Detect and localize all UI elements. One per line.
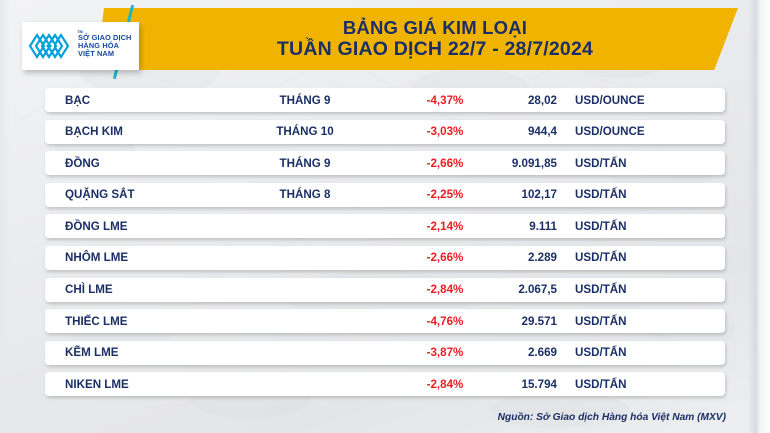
page-title-line2: TUẦN GIAO DỊCH 22/7 - 28/7/2024 <box>277 38 593 61</box>
cell-price: 102,17 <box>445 188 557 201</box>
cell-price: 2.669 <box>445 346 557 359</box>
table-row: BẠCH KIMTHÁNG 10-3,03%944,4USD/OUNCE <box>45 120 725 144</box>
cell-commodity: CHÌ LME <box>65 283 113 296</box>
logo-line-3: VIỆT NAM <box>78 50 132 58</box>
cell-price: 2.067,5 <box>445 283 557 296</box>
cell-month: THÁNG 9 <box>235 157 375 170</box>
cell-unit: USD/TẤN <box>575 378 627 391</box>
cell-commodity: ĐỒNG LME <box>65 220 127 233</box>
cell-commodity: NHÔM LME <box>65 251 128 264</box>
cell-unit: USD/TẤN <box>575 315 627 328</box>
table-row: ĐỒNGTHÁNG 9-2,66%9.091,85USD/TẤN <box>45 151 725 175</box>
cell-price: 28,02 <box>445 94 557 107</box>
table-row: QUẶNG SẮTTHÁNG 8-2,25%102,17USD/TẤN <box>45 183 725 207</box>
cell-unit: USD/TẤN <box>575 251 627 264</box>
cell-price: 29.571 <box>445 315 557 328</box>
cell-unit: USD/TẤN <box>575 283 627 296</box>
cell-commodity: THIẾC LME <box>65 315 127 328</box>
cell-commodity: NIKEN LME <box>65 378 129 391</box>
banner-title: BẢNG GIÁ KIM LOẠI TUẦN GIAO DỊCH 22/7 - … <box>170 9 700 69</box>
cell-unit: USD/TẤN <box>575 188 627 201</box>
source-note: Nguồn: Sở Giao dịch Hàng hóa Việt Nam (M… <box>498 412 726 423</box>
cell-month: THÁNG 8 <box>235 188 375 201</box>
cell-commodity: BẠC <box>65 94 90 107</box>
cell-commodity: ĐỒNG <box>65 157 100 170</box>
cell-commodity: BẠCH KIM <box>65 125 123 138</box>
logo-card: TM SỞ GIAO DỊCH HÀNG HÓA VIỆT NAM <box>22 22 139 70</box>
metal-price-board: BẢNG GIÁ KIM LOẠI TUẦN GIAO DỊCH 22/7 - … <box>0 0 770 433</box>
cell-unit: USD/TẤN <box>575 346 627 359</box>
cell-price: 944,4 <box>445 125 557 138</box>
logo-tm: TM <box>77 30 83 34</box>
cell-commodity: KẼM LME <box>65 346 118 359</box>
cell-month: THÁNG 9 <box>235 94 375 107</box>
table-row: NIKEN LME-2,84%15.794USD/TẤN <box>45 372 725 396</box>
table-row: BẠCTHÁNG 9-4,37%28,02USD/OUNCE <box>45 88 725 112</box>
cell-price: 9.111 <box>445 220 557 233</box>
mxv-logo-icon <box>27 29 73 63</box>
table-row: ĐỒNG LME-2,14%9.111USD/TẤN <box>45 214 725 238</box>
table-row: CHÌ LME-2,84%2.067,5USD/TẤN <box>45 278 725 302</box>
cell-unit: USD/OUNCE <box>575 125 645 138</box>
page-title-line1: BẢNG GIÁ KIM LOẠI <box>343 17 527 39</box>
cell-unit: USD/OUNCE <box>575 94 645 107</box>
table-row: NHÔM LME-2,66%2.289USD/TẤN <box>45 246 725 270</box>
cell-price: 2.289 <box>445 251 557 264</box>
cell-price: 9.091,85 <box>445 157 557 170</box>
cell-unit: USD/TẤN <box>575 220 627 233</box>
header-banner: BẢNG GIÁ KIM LOẠI TUẦN GIAO DỊCH 22/7 - … <box>0 8 770 70</box>
cell-unit: USD/TẤN <box>575 157 627 170</box>
cell-price: 15.794 <box>445 378 557 391</box>
cell-month: THÁNG 10 <box>235 125 375 138</box>
table-row: KẼM LME-3,87%2.669USD/TẤN <box>45 341 725 365</box>
table-row: THIẾC LME-4,76%29.571USD/TẤN <box>45 309 725 333</box>
price-table: BẠCTHÁNG 9-4,37%28,02USD/OUNCEBẠCH KIMTH… <box>0 88 770 404</box>
logo-text: TM SỞ GIAO DỊCH HÀNG HÓA VIỆT NAM <box>78 34 132 59</box>
cell-commodity: QUẶNG SẮT <box>65 188 135 201</box>
